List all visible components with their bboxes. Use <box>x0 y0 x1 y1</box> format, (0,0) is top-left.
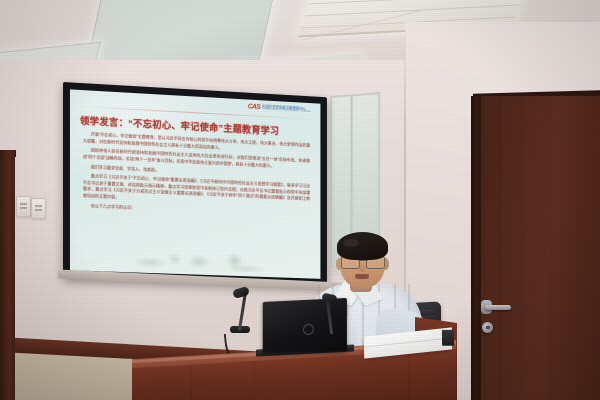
hair <box>337 232 388 260</box>
institution-logo: CAS 中国科学院成都文献情报中心 Chengdu Library of Chi… <box>248 103 310 113</box>
laptop-logo-icon <box>303 324 314 335</box>
projection-screen: CAS 中国科学院成都文献情报中心 Chengdu Library of Chi… <box>63 82 327 287</box>
projected-slide: CAS 中国科学院成都文献情报中心 Chengdu Library of Chi… <box>70 89 320 278</box>
room-door[interactable] <box>477 96 600 400</box>
door-lock-icon[interactable] <box>482 322 493 333</box>
laptop[interactable] <box>263 298 347 353</box>
meeting-room-photo: CAS 中国科学院成都文献情报中心 Chengdu Library of Chi… <box>0 0 600 400</box>
slide-body-text: 开展“不忘初心、牢记使命”主题教育，是以习近平同志为核心的党中央统筹伟大斗争、伟… <box>83 131 310 222</box>
left-door-frame <box>0 150 15 400</box>
mouth <box>355 274 369 279</box>
wall-switch[interactable] <box>31 198 46 219</box>
door-handle[interactable] <box>485 305 511 310</box>
wall-outlet[interactable] <box>16 196 31 217</box>
slide-watermark-illustration <box>106 238 306 275</box>
logo-mark: CAS <box>248 103 260 111</box>
